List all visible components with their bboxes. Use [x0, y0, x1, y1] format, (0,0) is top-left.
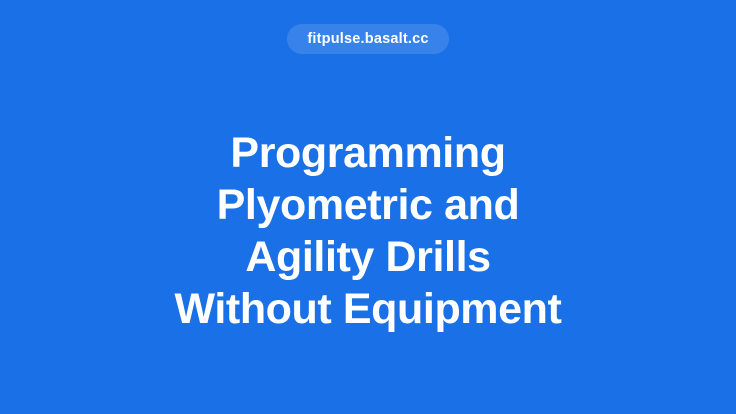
site-domain-badge[interactable]: fitpulse.basalt.cc — [287, 24, 448, 54]
title-line-4: Without Equipment — [175, 283, 562, 335]
title-line-2: Plyometric and — [175, 179, 562, 231]
title-line-1: Programming — [175, 127, 562, 179]
title-line-3: Agility Drills — [175, 231, 562, 283]
social-share-card: fitpulse.basalt.cc Programming Plyometri… — [0, 0, 736, 414]
headline-container: Programming Plyometric and Agility Drill… — [0, 54, 736, 414]
page-title: Programming Plyometric and Agility Drill… — [135, 127, 602, 335]
